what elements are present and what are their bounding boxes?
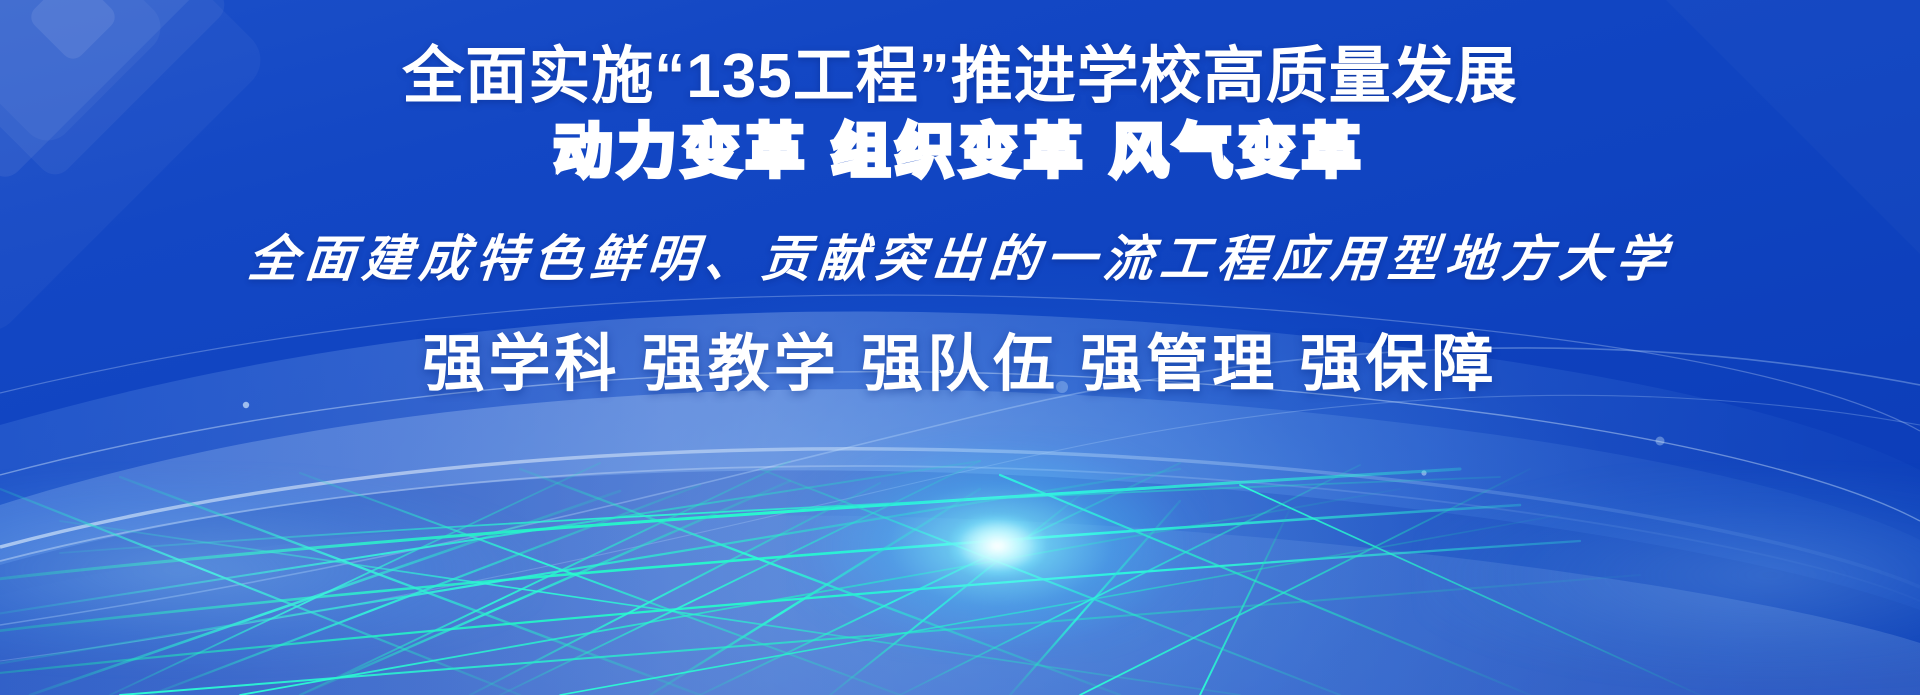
banner-subline: 动力变革 组织变革 风气变革 — [554, 117, 1366, 187]
banner-headline: 全面实施“135工程”推进学校高质量发展 — [402, 42, 1517, 111]
banner-text-block: 全面实施“135工程”推进学校高质量发展 动力变革 组织变革 风气变革 全面建成… — [0, 0, 1920, 695]
banner-pillars: 强学科 强教学 强队伍 强管理 强保障 — [423, 331, 1498, 399]
banner-vision-statement: 全面建成特色鲜明、贡献突出的一流工程应用型地方大学 — [245, 231, 1675, 289]
banner-root: 全面实施“135工程”推进学校高质量发展 动力变革 组织变革 风气变革 全面建成… — [0, 0, 1920, 695]
